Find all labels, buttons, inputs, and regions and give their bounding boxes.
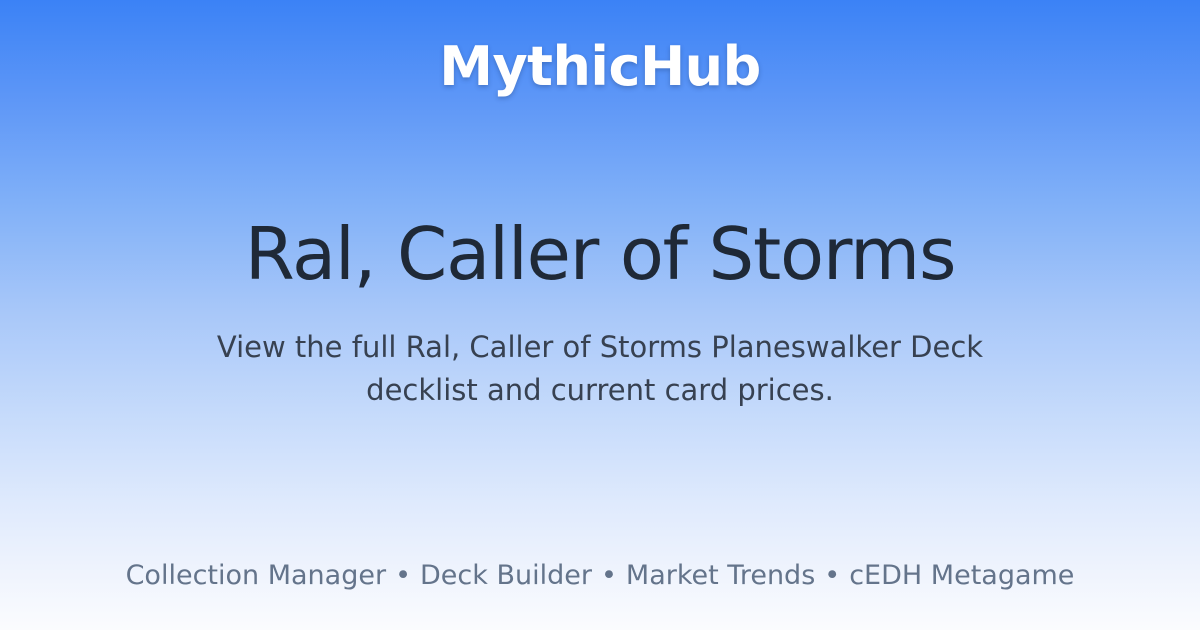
brand-logo-text[interactable]: MythicHub	[439, 40, 761, 94]
footer-link-list: Collection Manager•Deck Builder•Market T…	[126, 560, 1075, 592]
footer-link[interactable]: Deck Builder	[420, 560, 592, 592]
page-title: Ral, Caller of Storms	[245, 216, 956, 292]
hero-banner: MythicHub Ral, Caller of Storms View the…	[0, 0, 1200, 630]
brand-header: MythicHub	[0, 40, 1200, 94]
footer-link[interactable]: cEDH Metagame	[849, 560, 1074, 592]
footer-link[interactable]: Collection Manager	[126, 560, 386, 592]
footer-separator-icon: •	[824, 560, 840, 592]
footer-separator-icon: •	[395, 560, 411, 592]
hero-content: Ral, Caller of Storms View the full Ral,…	[0, 94, 1200, 560]
footer-nav: Collection Manager•Deck Builder•Market T…	[0, 560, 1200, 630]
footer-link[interactable]: Market Trends	[626, 560, 815, 592]
page-subtitle: View the full Ral, Caller of Storms Plan…	[195, 326, 1005, 412]
footer-separator-icon: •	[601, 560, 617, 592]
